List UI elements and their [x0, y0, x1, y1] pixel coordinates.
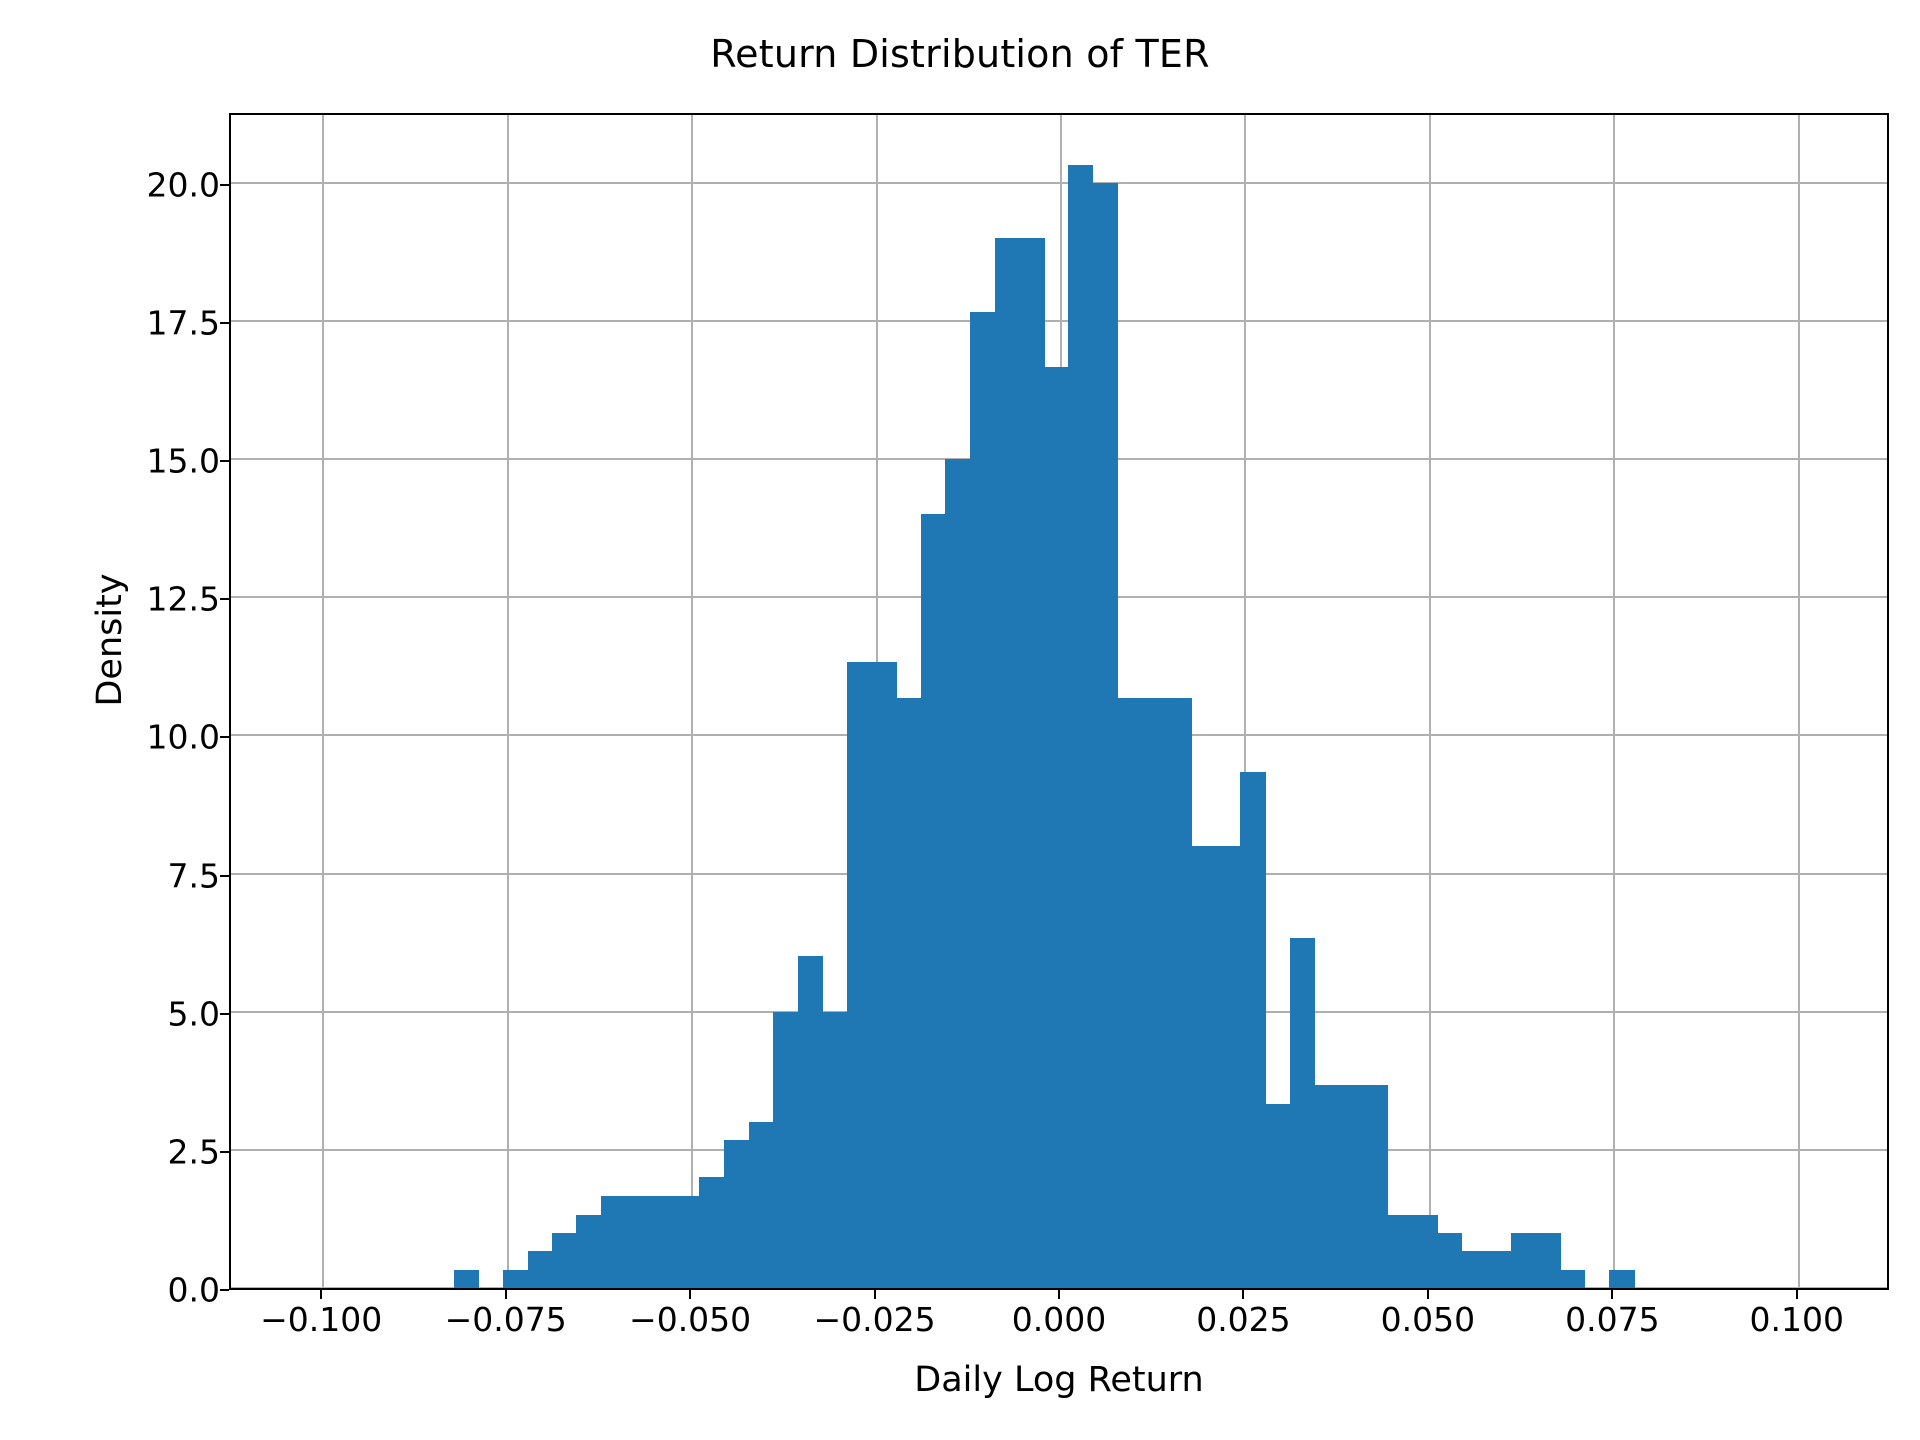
y-tick-mark — [220, 1151, 229, 1153]
histogram-bar — [1068, 165, 1093, 1288]
histogram-bar — [970, 312, 995, 1288]
y-tick-label: 15.0 — [147, 442, 220, 481]
histogram-bar — [528, 1251, 553, 1288]
histogram-bar — [945, 459, 971, 1288]
histogram-bar — [1093, 183, 1119, 1288]
y-tick-label: 12.5 — [147, 580, 220, 619]
histogram-bar — [1240, 772, 1266, 1288]
y-tick-label: 7.5 — [168, 856, 220, 895]
histogram-bar — [1560, 1270, 1585, 1288]
y-tick-label: 2.5 — [168, 1132, 220, 1171]
histogram-bar — [1339, 1085, 1364, 1288]
x-tick-mark — [1427, 1290, 1429, 1299]
gridline-vertical — [1798, 115, 1800, 1288]
histogram-bar — [1487, 1251, 1512, 1288]
x-tick-label: 0.050 — [1381, 1300, 1475, 1339]
x-tick-label: −0.050 — [629, 1300, 751, 1339]
histogram-bar — [1118, 698, 1143, 1288]
chart-title: Return Distribution of TER — [0, 32, 1920, 76]
y-tick-mark — [220, 460, 229, 462]
histogram-bar — [1019, 238, 1045, 1288]
histogram-bar — [1142, 698, 1167, 1288]
y-tick-label: 10.0 — [147, 718, 220, 757]
gridline-vertical — [507, 115, 509, 1288]
histogram-bar — [1167, 698, 1193, 1288]
histogram-bar — [995, 238, 1020, 1288]
plot-axes — [229, 113, 1889, 1290]
histogram-bar — [626, 1196, 651, 1288]
histogram-bar — [576, 1215, 602, 1288]
histogram-bar — [1437, 1233, 1462, 1288]
histogram-bar — [1265, 1104, 1290, 1288]
x-tick-label: 0.100 — [1750, 1300, 1844, 1339]
histogram-bar — [773, 1012, 798, 1288]
y-tick-label: 5.0 — [168, 994, 220, 1033]
histogram-bar — [896, 698, 921, 1288]
y-tick-mark — [220, 1013, 229, 1015]
y-axis-label: Density — [90, 490, 130, 790]
x-tick-label: 0.000 — [1012, 1300, 1106, 1339]
histogram-bar — [749, 1122, 774, 1288]
x-tick-label: −0.075 — [445, 1300, 567, 1339]
histogram-bar — [1609, 1270, 1635, 1288]
x-tick-mark — [320, 1290, 322, 1299]
histogram-bar — [650, 1196, 676, 1288]
gridline-horizontal — [231, 182, 1887, 184]
x-tick-mark — [1242, 1290, 1244, 1299]
histogram-bar — [1462, 1251, 1488, 1288]
x-tick-label: 0.075 — [1565, 1300, 1659, 1339]
x-axis-label: Daily Log Return — [229, 1360, 1889, 1400]
x-tick-label: −0.025 — [813, 1300, 935, 1339]
y-tick-label: 17.5 — [147, 303, 220, 342]
histogram-bar — [1413, 1215, 1438, 1288]
histogram-bar — [1290, 938, 1315, 1288]
x-tick-label: 0.025 — [1196, 1300, 1290, 1339]
histogram-bar — [601, 1196, 626, 1288]
x-tick-mark — [874, 1290, 876, 1299]
gridline-vertical — [1613, 115, 1615, 1288]
gridline-vertical — [1429, 115, 1431, 1288]
histogram-bar — [1216, 846, 1241, 1288]
x-tick-mark — [1796, 1290, 1798, 1299]
x-tick-mark — [1058, 1290, 1060, 1299]
histogram-bar — [454, 1270, 479, 1288]
histogram-bar — [699, 1177, 724, 1288]
histogram-bar — [1363, 1085, 1388, 1288]
y-tick-mark — [220, 736, 229, 738]
histogram-bar — [552, 1233, 577, 1288]
histogram-bar — [921, 514, 946, 1288]
histogram-bar — [1535, 1233, 1561, 1288]
gridline-horizontal — [231, 320, 1887, 322]
histogram-bar — [1511, 1233, 1536, 1288]
histogram-bar — [675, 1196, 700, 1288]
histogram-bar — [1388, 1215, 1414, 1288]
histogram-bar — [823, 1012, 848, 1288]
y-tick-mark — [220, 598, 229, 600]
histogram-bar — [1044, 367, 1069, 1288]
x-tick-label: −0.100 — [260, 1300, 382, 1339]
y-tick-label: 0.0 — [168, 1271, 220, 1310]
y-tick-mark — [220, 875, 229, 877]
y-tick-mark — [220, 322, 229, 324]
plot-area — [231, 115, 1887, 1288]
histogram-bar — [503, 1270, 529, 1288]
x-tick-mark — [689, 1290, 691, 1299]
y-tick-mark — [220, 184, 229, 186]
y-tick-label: 20.0 — [147, 165, 220, 204]
x-tick-mark — [1611, 1290, 1613, 1299]
y-tick-mark — [220, 1289, 229, 1291]
histogram-bar — [724, 1140, 750, 1288]
histogram-bar — [798, 956, 824, 1288]
figure-canvas: Return Distribution of TER Daily Log Ret… — [0, 0, 1920, 1440]
histogram-bar — [847, 662, 872, 1288]
histogram-bar — [1192, 846, 1217, 1288]
x-tick-mark — [505, 1290, 507, 1299]
histogram-bar — [871, 662, 897, 1288]
gridline-vertical — [691, 115, 693, 1288]
gridline-vertical — [322, 115, 324, 1288]
histogram-bar — [1314, 1085, 1340, 1288]
